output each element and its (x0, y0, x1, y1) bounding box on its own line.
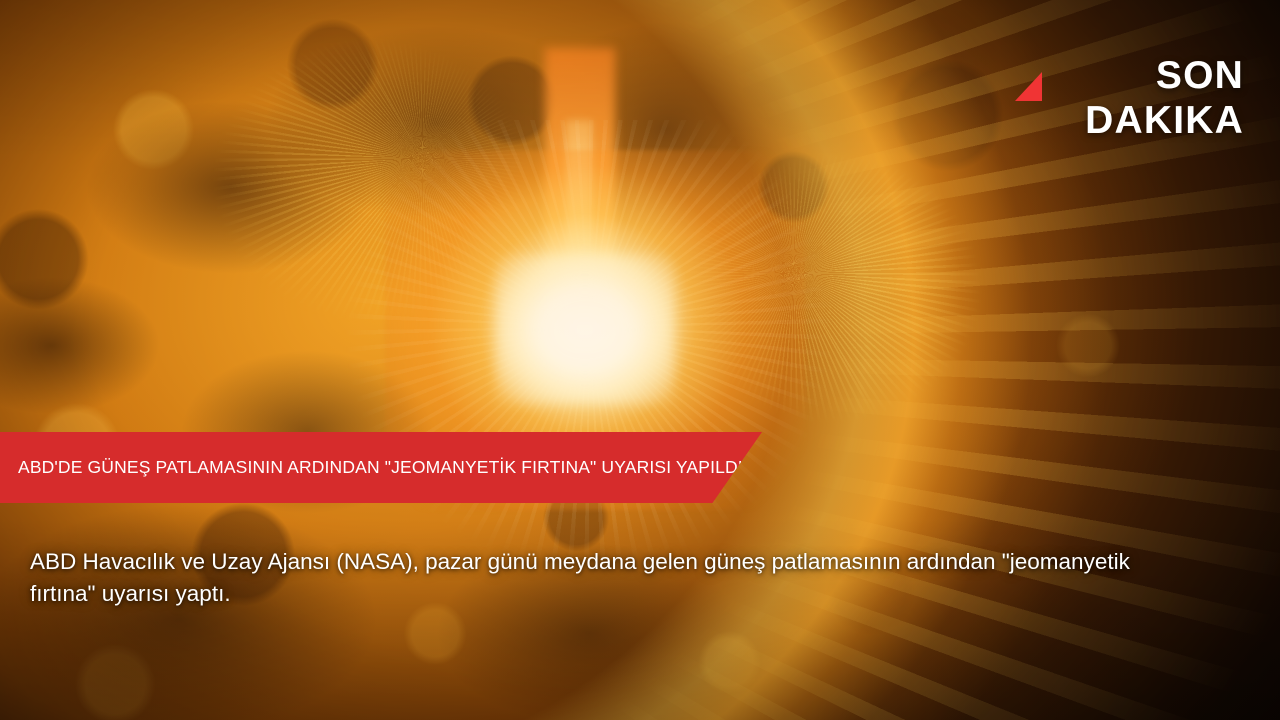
son-dakika-logo: SON DAKIKA (1015, 56, 1244, 140)
red-triangle-icon (1015, 72, 1043, 102)
logo-wordmark: SON DAKIKA (1085, 56, 1244, 140)
summary-text: ABD Havacılık ve Uzay Ajansı (NASA), paz… (30, 546, 1160, 610)
headline-banner: ABD'DE GÜNEŞ PATLAMASININ ARDINDAN "JEOM… (0, 432, 762, 503)
logo-line-son: SON (1085, 56, 1244, 95)
headline-text: ABD'DE GÜNEŞ PATLAMASININ ARDINDAN "JEOM… (0, 457, 743, 478)
news-graphic: SON DAKIKA ABD'DE GÜNEŞ PATLAMASININ ARD… (0, 0, 1280, 720)
logo-line-dakika: DAKIKA (1085, 101, 1244, 140)
